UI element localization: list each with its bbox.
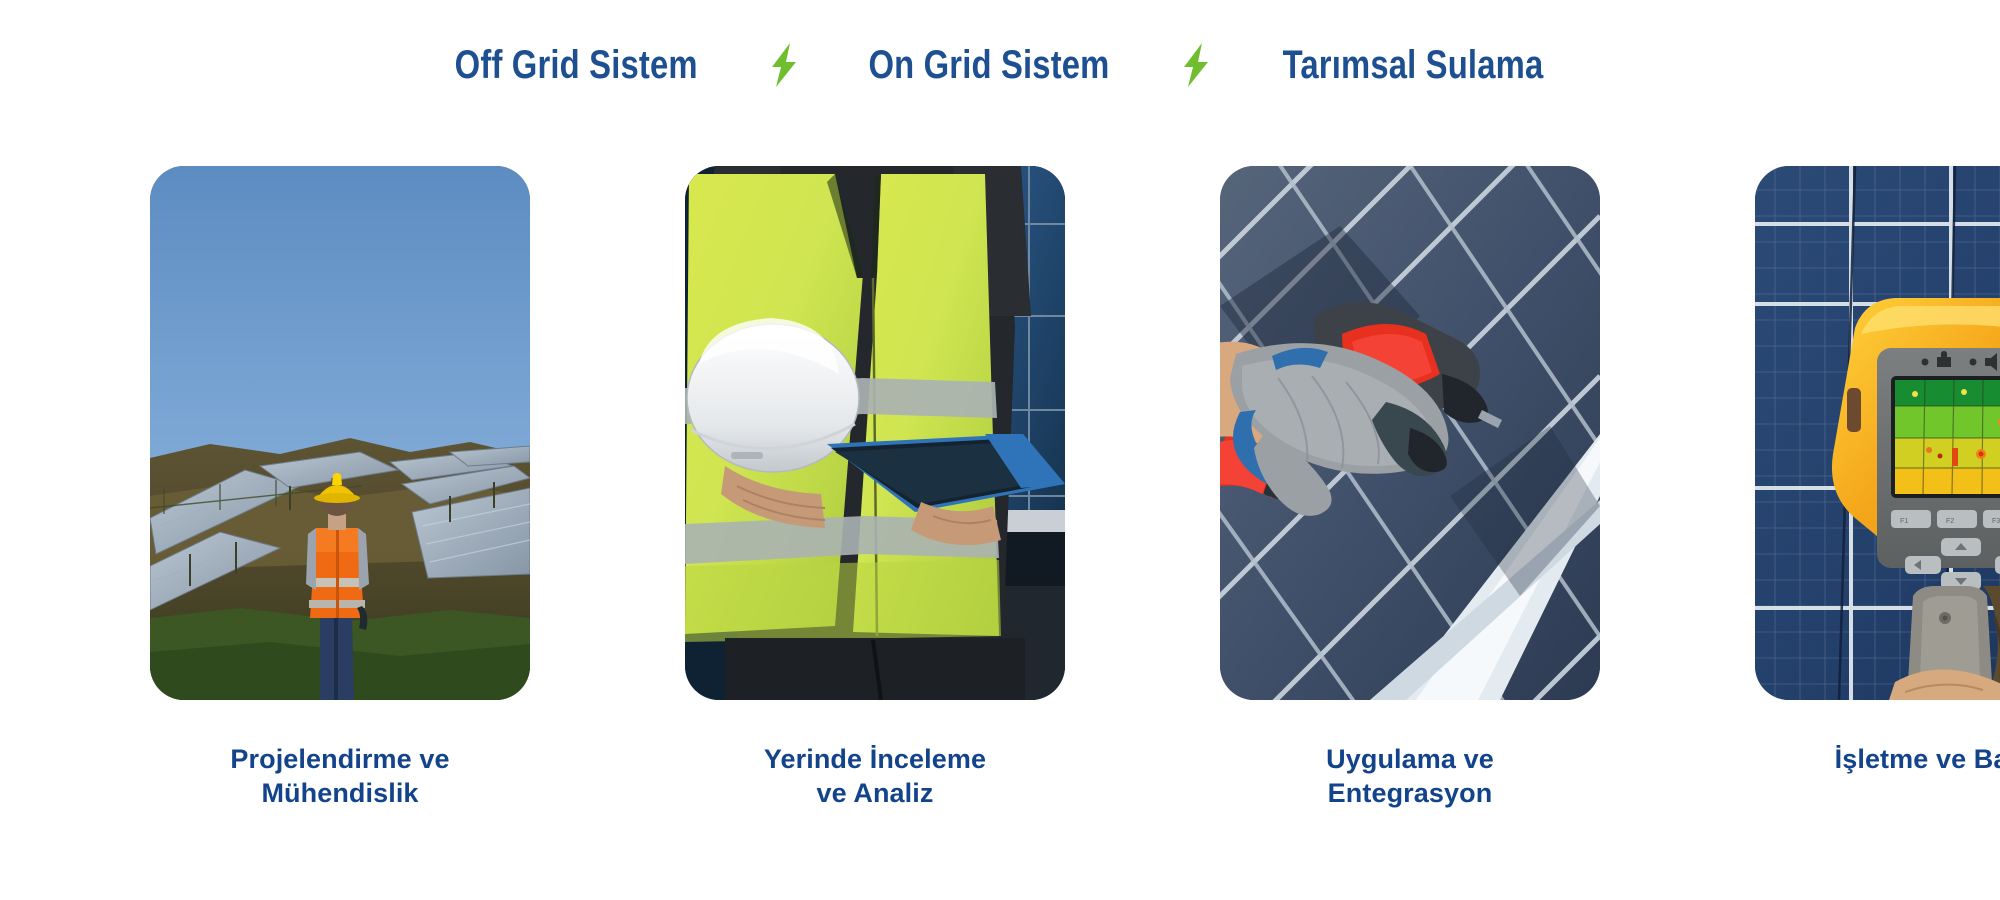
svg-text:F2: F2 — [1946, 518, 1954, 525]
lightning-bolt-icon — [1178, 42, 1212, 88]
card-image-solar-farm-worker — [150, 166, 530, 700]
thermal-image — [1895, 380, 2000, 494]
nav-link-off-grid[interactable]: Off Grid Sistem — [455, 45, 698, 85]
lightning-bolt-icon — [766, 42, 800, 88]
service-card-projelendirme[interactable]: Projelendirme ve Mühendislik — [150, 166, 530, 811]
card-image-engineer-clipboard — [685, 166, 1065, 700]
caption-line: ve Analiz — [685, 776, 1065, 810]
svg-text:F1: F1 — [1900, 518, 1908, 525]
card-caption-yerinde-inceleme: Yerinde İnceleme ve Analiz — [685, 742, 1065, 811]
card-image-drill-on-panel — [1220, 166, 1600, 700]
top-nav: Off Grid Sistem On Grid Sistem Tarımsal … — [0, 42, 2000, 88]
service-card-uygulama[interactable]: Uygulama ve Entegrasyon — [1220, 166, 1600, 811]
caption-line: Uygulama ve — [1220, 742, 1600, 776]
card-caption-projelendirme: Projelendirme ve Mühendislik — [150, 742, 530, 811]
caption-line: Yerinde İnceleme — [685, 742, 1065, 776]
caption-line: Projelendirme ve — [150, 742, 530, 776]
caption-line: İşletme ve Bakım — [1755, 742, 2000, 776]
svg-text:F3: F3 — [1992, 518, 2000, 525]
card-caption-isletme-bakim: İşletme ve Bakım — [1755, 742, 2000, 776]
nav-link-tarimsal-sulama[interactable]: Tarımsal Sulama — [1283, 45, 1544, 85]
service-card-grid: Projelendirme ve Mühendislik — [150, 166, 1850, 811]
caption-line: Entegrasyon — [1220, 776, 1600, 810]
caption-line: Mühendislik — [150, 776, 530, 810]
service-card-isletme-bakim[interactable]: F1 F2 F3 — [1755, 166, 2000, 811]
card-image-thermal-camera: F1 F2 F3 — [1755, 166, 2000, 700]
service-card-yerinde-inceleme[interactable]: Yerinde İnceleme ve Analiz — [685, 166, 1065, 811]
card-caption-uygulama: Uygulama ve Entegrasyon — [1220, 742, 1600, 811]
nav-link-on-grid[interactable]: On Grid Sistem — [869, 45, 1110, 85]
